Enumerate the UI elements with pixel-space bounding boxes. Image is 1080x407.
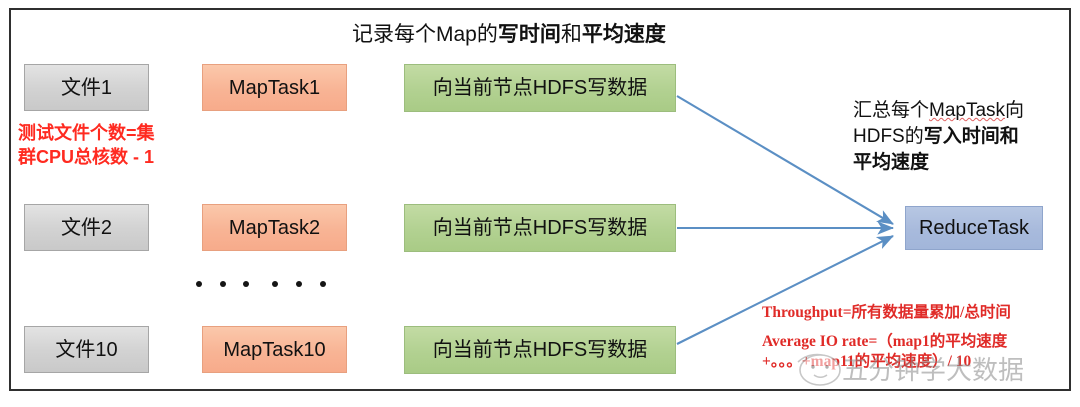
formula-block: Throughput=所有数据量累加/总时间 Average IO rate=（… [762, 303, 1074, 371]
note-file-count: 测试文件个数=集 群CPU总核数 - 1 [18, 122, 223, 170]
note-right-line2-prefix: HDFS的 [853, 126, 924, 147]
hdfs-write-box-3[interactable]: 向当前节点HDFS写数据 [404, 326, 676, 374]
file-box-3[interactable]: 文件10 [24, 326, 149, 373]
ellipsis-dot [243, 281, 249, 287]
ellipsis-dot [320, 281, 326, 287]
note-file-count-line1: 测试文件个数=集 [18, 122, 223, 146]
file-box-2[interactable]: 文件2 [24, 204, 149, 251]
note-reduce-summary: 汇总每个MapTask向 HDFS的写入时间和 平均速度 [853, 98, 1068, 177]
note-right-line2-bold: 写入时间和 [924, 126, 1019, 147]
formula-throughput: Throughput=所有数据量累加/总时间 [762, 303, 1074, 323]
maptask-box-2[interactable]: MapTask2 [202, 204, 347, 251]
diagram-canvas: 记录每个Map的写时间和平均速度 文件1 MapTask1 向当前节点HDFS写… [0, 0, 1080, 407]
ellipsis-dot [196, 281, 202, 287]
note-right-suffix: 向 [1005, 100, 1024, 121]
formula-average-io-line1: Average IO rate=（map1的平均速度 [762, 332, 1074, 352]
ellipsis-dot [272, 281, 278, 287]
diagram-title: 记录每个Map的写时间和平均速度 [352, 18, 782, 48]
formula-average-io-line2: +。。。+map11的平均速度）/ 10 [762, 352, 1074, 372]
title-bold-avg-speed: 平均速度 [582, 23, 666, 46]
note-right-prefix: 汇总每个 [853, 100, 929, 121]
reducetask-box[interactable]: ReduceTask [905, 206, 1043, 250]
note-reduce-summary-line3: 平均速度 [853, 150, 1068, 176]
title-bold-write-time: 写时间 [498, 23, 561, 46]
maptask-box-1[interactable]: MapTask1 [202, 64, 347, 111]
file-box-1[interactable]: 文件1 [24, 64, 149, 111]
note-file-count-line2: 群CPU总核数 - 1 [18, 146, 223, 170]
title-mid: 和 [561, 23, 582, 46]
title-prefix: 记录每个Map的 [352, 23, 498, 46]
ellipsis-dots [196, 278, 346, 292]
ellipsis-dot [296, 281, 302, 287]
note-reduce-summary-line1: 汇总每个MapTask向 [853, 98, 1068, 124]
ellipsis-dot [220, 281, 226, 287]
note-right-maptask: MapTask [929, 100, 1005, 121]
hdfs-write-box-2[interactable]: 向当前节点HDFS写数据 [404, 204, 676, 252]
hdfs-write-box-1[interactable]: 向当前节点HDFS写数据 [404, 64, 676, 112]
maptask-box-3[interactable]: MapTask10 [202, 326, 347, 373]
note-reduce-summary-line2: HDFS的写入时间和 [853, 124, 1068, 150]
